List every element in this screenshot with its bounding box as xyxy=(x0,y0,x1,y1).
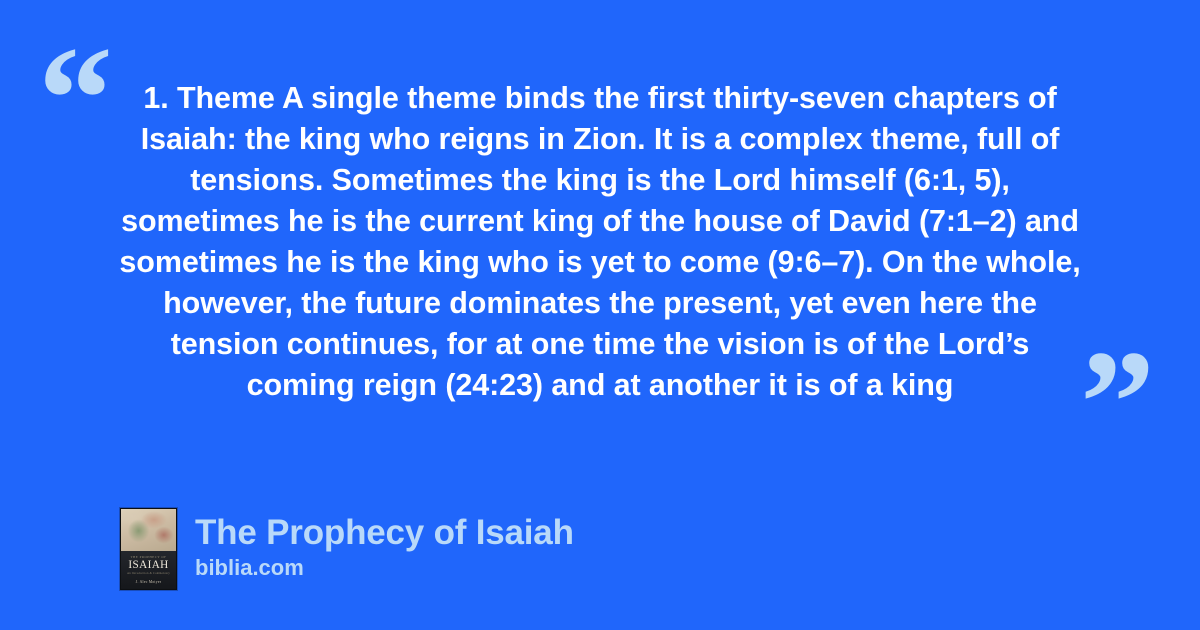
book-cover-author: J. Alec Motyer xyxy=(136,580,161,584)
open-quote-icon: “ xyxy=(38,24,113,174)
book-cover-subtitle: An Introduction & Commentary xyxy=(127,572,170,575)
source-title: The Prophecy of Isaiah xyxy=(195,512,574,554)
attribution: THE PROPHECY OF ISAIAH An Introduction &… xyxy=(120,508,574,590)
book-cover-title: ISAIAH xyxy=(128,560,168,571)
close-quote-icon: ” xyxy=(1080,328,1155,478)
quote-text: 1. Theme A single theme binds the first … xyxy=(118,78,1082,406)
book-cover-artwork xyxy=(121,509,176,551)
attribution-text: The Prophecy of Isaiah biblia.com xyxy=(195,508,574,581)
source-site: biblia.com xyxy=(195,555,574,581)
book-cover-title-block: THE PROPHECY OF ISAIAH An Introduction &… xyxy=(121,551,176,589)
quote-card: “ 1. Theme A single theme binds the firs… xyxy=(0,0,1200,630)
book-cover-thumbnail: THE PROPHECY OF ISAIAH An Introduction &… xyxy=(120,508,177,590)
